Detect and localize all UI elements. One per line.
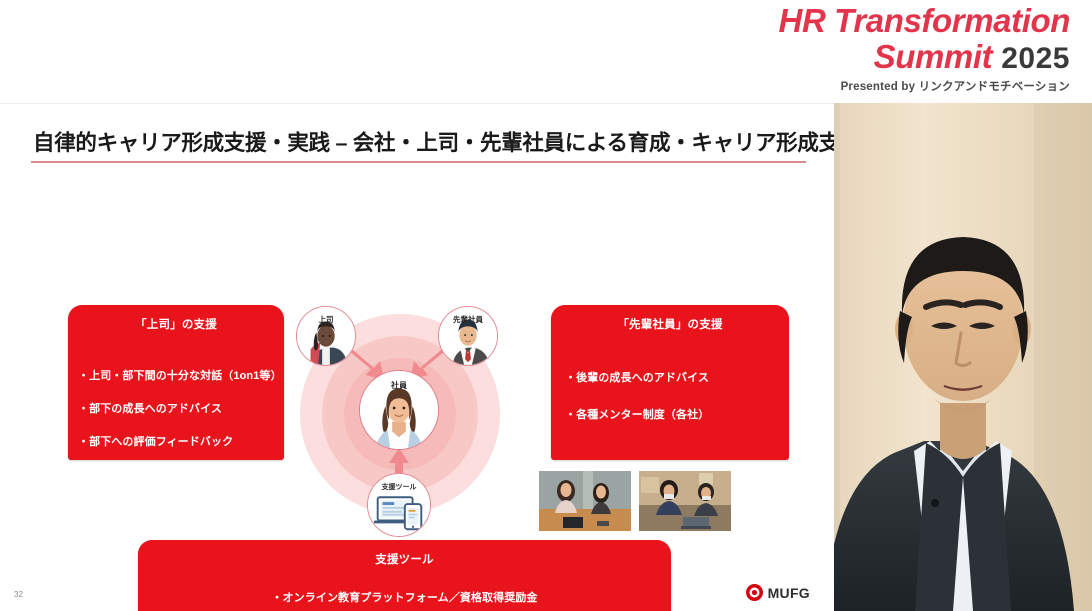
mufg-logo: MUFG <box>746 584 810 601</box>
event-logo: HR Transformation Summit 2025 Presented … <box>779 4 1070 94</box>
title-underline <box>31 161 806 163</box>
mufg-mark-icon <box>746 584 763 601</box>
slide-presentation-screen: HR Transformation Summit 2025 Presented … <box>0 0 1092 611</box>
two-people-laptop-photo <box>639 471 731 531</box>
diagram-node-senior: 先輩社員 <box>438 306 498 366</box>
support-box-senior-title: 「先輩社員」の支援 <box>551 316 789 332</box>
bullet-item: ・各種メンター制度（各社） <box>565 406 789 422</box>
diagram-node-staff: 社員 <box>359 370 439 450</box>
bullet-item: ・後輩の成長へのアドバイス <box>565 369 789 385</box>
bullet-item: ・部下の成長へのアドバイス <box>78 400 284 416</box>
diagram-node-staff-label: 社員 <box>360 380 438 391</box>
support-box-tools: 支援ツール ・オンライン教育プラットフォーム／資格取得奨励金 ・ キャリアアドバ… <box>138 540 671 611</box>
support-relationship-diagram: 上司 先輩社員 <box>286 300 526 530</box>
speaker-video-frame <box>834 103 1092 611</box>
support-box-boss: 「上司」の支援 ・上司・部下間の十分な対話（1on1等） ・部下の成長へのアドバ… <box>68 305 284 460</box>
support-box-boss-bullets: ・上司・部下間の十分な対話（1on1等） ・部下の成長へのアドバイス ・部下への… <box>68 367 284 449</box>
bullet-item: ・上司・部下間の十分な対話（1on1等） <box>78 367 284 383</box>
bullet-item: ・オンライン教育プラットフォーム／資格取得奨励金 <box>138 589 671 605</box>
event-logo-line1: HR Transformation <box>779 4 1070 37</box>
page-number: 32 <box>14 590 23 599</box>
support-box-boss-title: 「上司」の支援 <box>68 316 284 332</box>
event-logo-year: 2025 <box>1001 44 1070 74</box>
support-box-senior-bullets: ・後輩の成長へのアドバイス ・各種メンター制度（各社） <box>551 369 789 422</box>
diagram-node-boss: 上司 <box>296 306 356 366</box>
slide-canvas: 自律的キャリア形成支援・実践 – 会社・上司・先輩社員による育成・キャリア形成支… <box>0 104 834 611</box>
diagram-node-tool-label: 支援ツール <box>368 482 430 492</box>
event-logo-line2: Summit <box>874 40 993 73</box>
event-presented-by: Presented by リンクアンドモチベーション <box>779 82 1070 94</box>
event-branding-header: HR Transformation Summit 2025 Presented … <box>0 0 1092 104</box>
diagram-node-boss-label: 上司 <box>297 314 355 325</box>
support-box-tools-bullets: ・オンライン教育プラットフォーム／資格取得奨励金 ・ キャリアアドバイザリーデス… <box>138 589 671 611</box>
diagram-node-senior-label: 先輩社員 <box>439 314 497 325</box>
event-logo-line2-row: Summit 2025 <box>779 40 1070 74</box>
mufg-logo-text: MUFG <box>768 585 810 601</box>
two-women-meeting-photo <box>539 471 631 531</box>
diagram-node-tool: 支援ツール <box>367 473 431 537</box>
support-box-tools-title: 支援ツール <box>138 551 671 567</box>
speaker-video-feed[interactable] <box>834 103 1092 611</box>
slide-title: 自律的キャリア形成支援・実践 – 会社・上司・先輩社員による育成・キャリア形成支… <box>33 126 861 157</box>
bullet-item: ・部下への評価フィードバック <box>78 433 284 449</box>
case-photo-strip <box>539 471 731 531</box>
support-box-senior: 「先輩社員」の支援 ・後輩の成長へのアドバイス ・各種メンター制度（各社） <box>551 305 789 460</box>
